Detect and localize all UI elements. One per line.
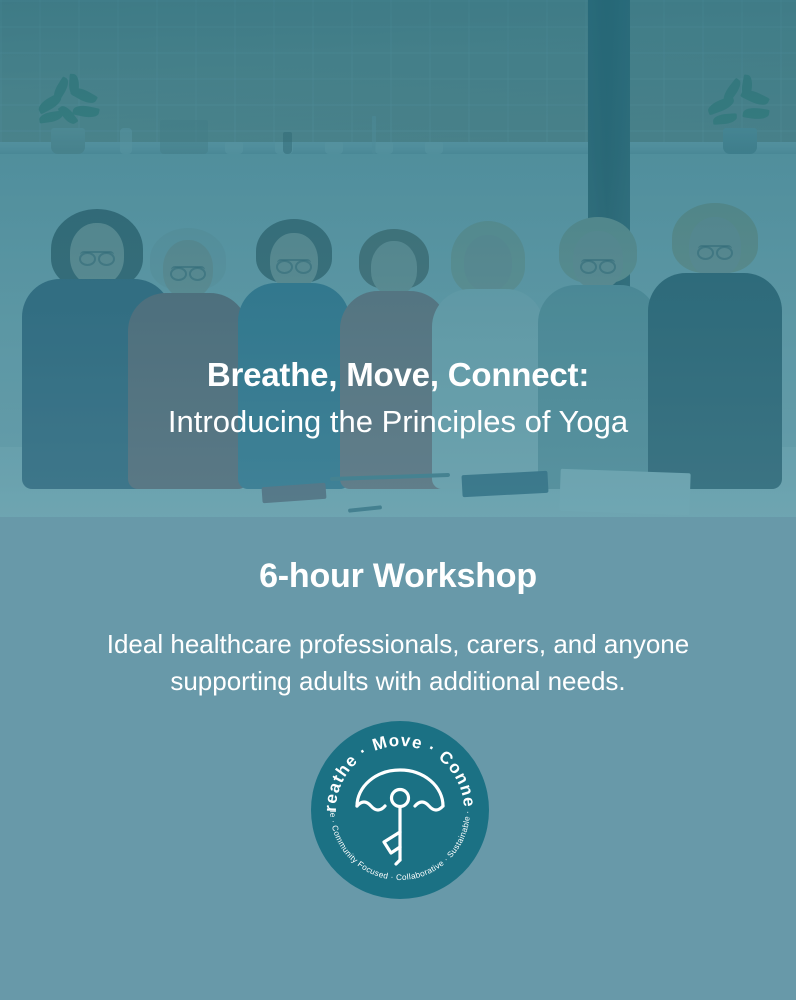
workshop-heading: 6-hour Workshop [0, 517, 796, 596]
brand-logo: Breathe · Move · Connect Accessible · Co… [310, 720, 490, 900]
description-line-2: supporting adults with additional needs. [170, 666, 625, 696]
brand-logo-svg: Breathe · Move · Connect Accessible · Co… [310, 720, 490, 900]
page-title: Breathe, Move, Connect: [0, 356, 796, 395]
workshop-description: Ideal healthcare professionals, carers, … [48, 626, 748, 700]
hero-title-block: Breathe, Move, Connect: Introducing the … [0, 356, 796, 440]
page-subtitle: Introducing the Principles of Yoga [0, 403, 796, 440]
description-line-1: Ideal healthcare professionals, carers, … [107, 629, 689, 659]
poster: Breathe, Move, Connect: Introducing the … [0, 0, 796, 1000]
